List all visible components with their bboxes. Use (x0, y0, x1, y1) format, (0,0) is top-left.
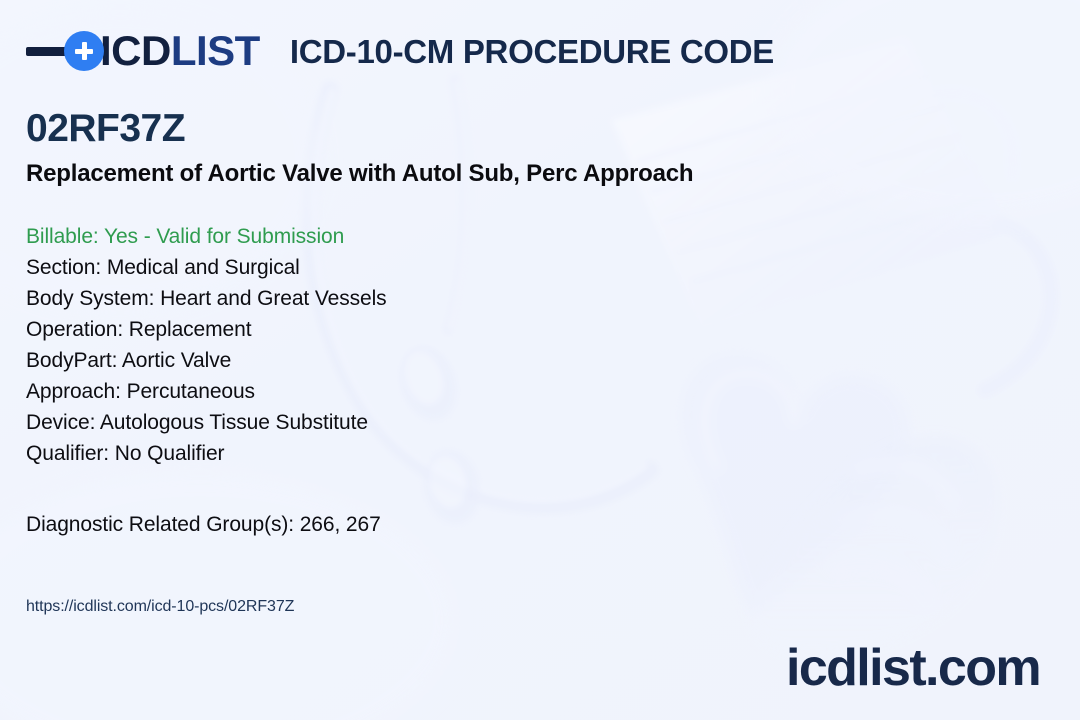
attribute-operation: Operation: Replacement (26, 314, 826, 345)
procedure-code: 02RF37Z (26, 108, 826, 151)
attribute-body-system: Body System: Heart and Great Vessels (26, 283, 826, 314)
page-title: ICD-10-CM PROCEDURE CODE (290, 35, 774, 68)
plus-icon (64, 31, 104, 71)
procedure-description: Replacement of Aortic Valve with Autol S… (26, 160, 826, 189)
icdlist-logo[interactable]: ICD LIST (26, 22, 260, 80)
attribute-qualifier: Qualifier: No Qualifier (26, 438, 826, 469)
procedure-details: 02RF37Z Replacement of Aortic Valve with… (26, 108, 826, 540)
icd-code-card: ICD LIST ICD-10-CM PROCEDURE CODE 02RF37… (0, 0, 1080, 720)
logo-text-icd: ICD (100, 30, 171, 72)
logo-text-list: LIST (171, 30, 260, 72)
attribute-section: Section: Medical and Surgical (26, 252, 826, 283)
brand-wordmark: icdlist.com (786, 642, 1040, 694)
header: ICD LIST ICD-10-CM PROCEDURE CODE (26, 22, 774, 80)
source-url[interactable]: https://icdlist.com/icd-10-pcs/02RF37Z (26, 598, 294, 616)
diagnostic-related-groups: Diagnostic Related Group(s): 266, 267 (26, 509, 826, 540)
attribute-list: Billable: Yes - Valid for Submission Sec… (26, 221, 826, 469)
attribute-body-part: BodyPart: Aortic Valve (26, 345, 826, 376)
attribute-device: Device: Autologous Tissue Substitute (26, 407, 826, 438)
billable-status: Billable: Yes - Valid for Submission (26, 221, 826, 252)
attribute-approach: Approach: Percutaneous (26, 376, 826, 407)
